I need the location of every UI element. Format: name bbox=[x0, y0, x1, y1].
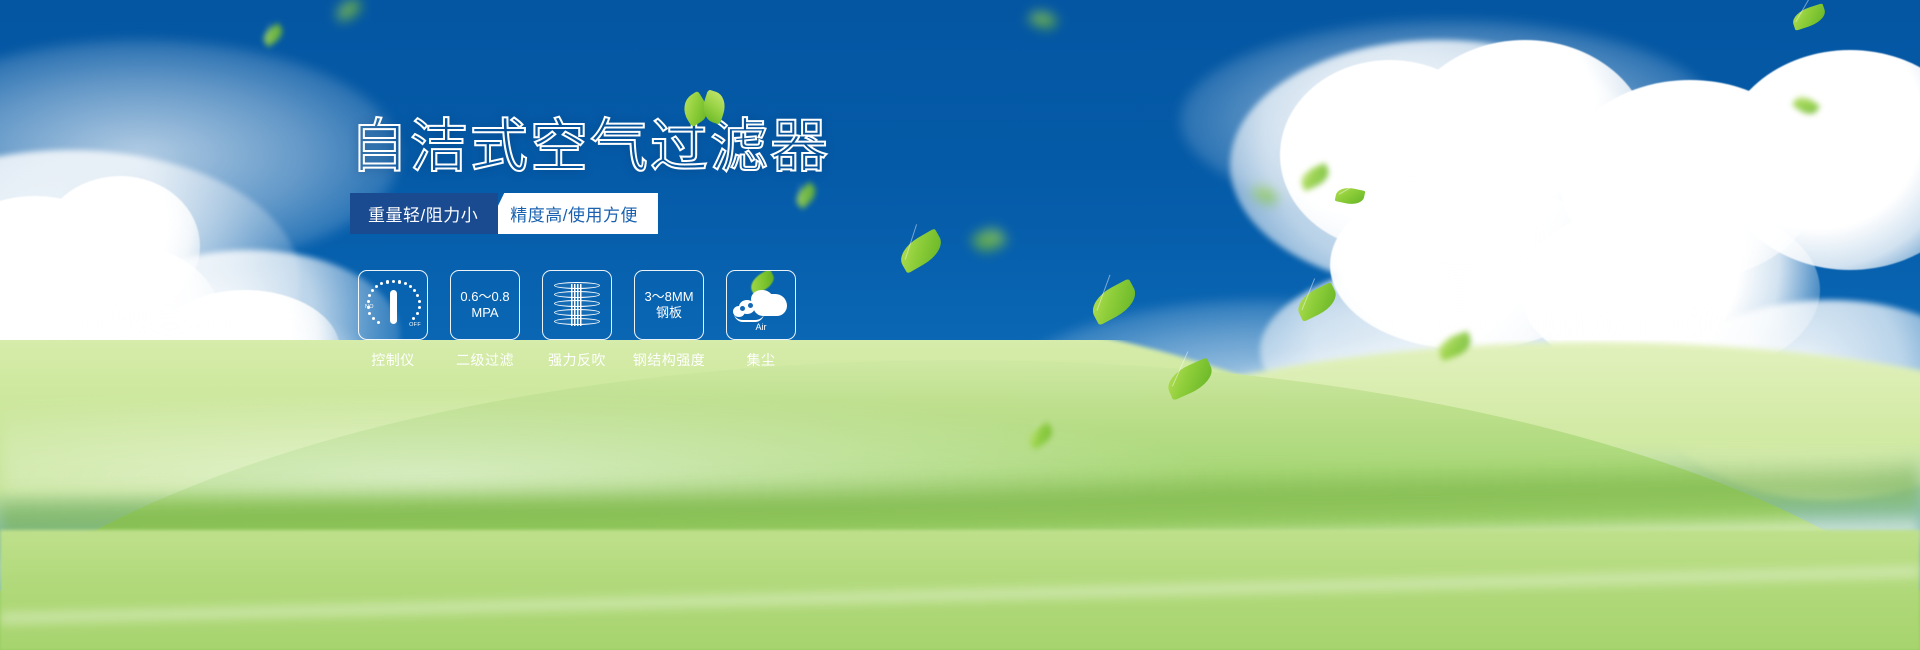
feature-caption-dust: 集尘 bbox=[747, 350, 776, 370]
feature-caption-pressure: 二级过滤 bbox=[456, 350, 514, 370]
feature-caption-backblow: 强力反吹 bbox=[548, 350, 606, 370]
tab-weight-resistance[interactable]: 重量轻/阻力小 bbox=[350, 193, 498, 234]
feature-box-backblow bbox=[542, 270, 612, 340]
feature-list: NO OFF 控制仪 0.6～0.8 MPA 二级过滤 bbox=[358, 270, 796, 370]
gauge-needle-icon bbox=[390, 290, 397, 324]
gauge-off-label: OFF bbox=[409, 322, 421, 328]
gauge-on-label: NO bbox=[365, 304, 374, 310]
feature-item-dust[interactable]: Air 集尘 bbox=[726, 270, 796, 370]
steel-line-2: 钢板 bbox=[644, 305, 693, 321]
feature-box-dust: Air bbox=[726, 270, 796, 340]
feature-item-backblow[interactable]: 强力反吹 bbox=[542, 270, 612, 370]
steel-line-1: 3～8MM bbox=[644, 289, 693, 305]
feature-caption-control: 控制仪 bbox=[371, 350, 415, 370]
control-gauge-icon: NO OFF bbox=[366, 278, 420, 332]
hero-banner: 自洁式空气过滤器 重量轻/阻力小 精度高/使用方便 bbox=[0, 0, 1920, 650]
feature-box-pressure: 0.6～0.8 MPA bbox=[450, 270, 520, 340]
feature-item-steel[interactable]: 3～8MM 钢板 钢结构强度 bbox=[634, 270, 704, 370]
feature-caption-steel: 钢结构强度 bbox=[633, 350, 706, 370]
filter-stack-icon bbox=[552, 280, 602, 330]
feature-box-control: NO OFF bbox=[358, 270, 428, 340]
pressure-line-2: MPA bbox=[460, 305, 509, 321]
page-title: 自洁式空气过滤器 bbox=[350, 118, 830, 176]
feature-box-steel: 3～8MM 钢板 bbox=[634, 270, 704, 340]
feature-item-control[interactable]: NO OFF 控制仪 bbox=[358, 270, 428, 370]
air-cloud-icon: Air bbox=[733, 280, 789, 330]
pressure-text-icon: 0.6～0.8 MPA bbox=[460, 289, 509, 322]
air-label: Air bbox=[733, 322, 789, 332]
feature-item-pressure[interactable]: 0.6～0.8 MPA 二级过滤 bbox=[450, 270, 520, 370]
feature-tabs: 重量轻/阻力小 精度高/使用方便 bbox=[350, 193, 658, 234]
pressure-line-1: 0.6～0.8 bbox=[460, 289, 509, 305]
steel-plate-text-icon: 3～8MM 钢板 bbox=[644, 289, 693, 322]
banner-content: 自洁式空气过滤器 重量轻/阻力小 精度高/使用方便 bbox=[0, 0, 1920, 650]
tab-precision-convenience[interactable]: 精度高/使用方便 bbox=[484, 193, 658, 234]
